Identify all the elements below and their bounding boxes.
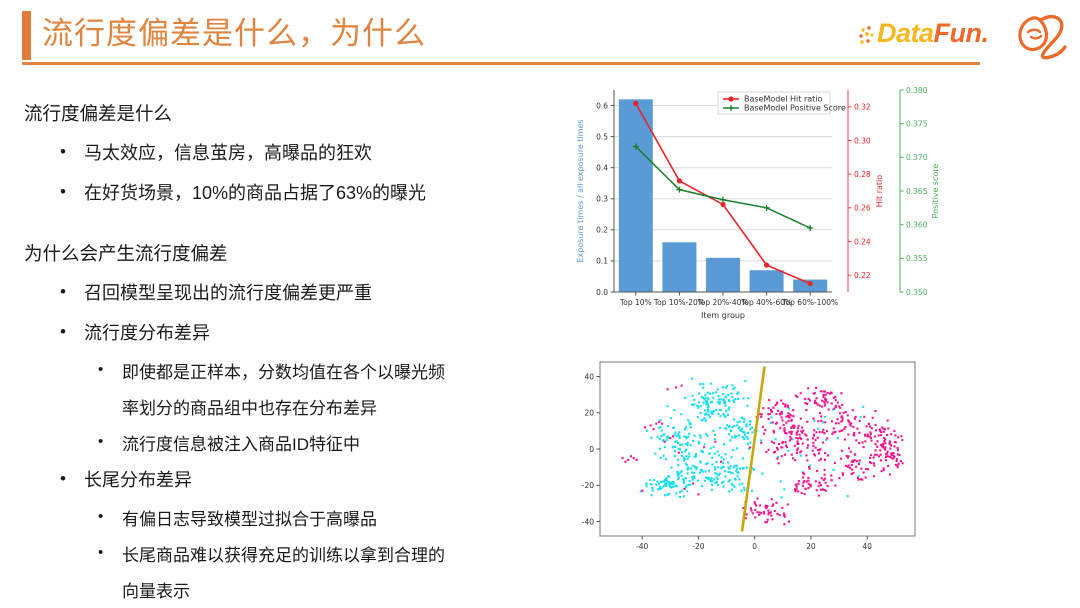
y-tick-label: -40	[582, 517, 594, 526]
scatter-point	[831, 402, 833, 404]
scatter-point	[686, 490, 688, 492]
scatter-point	[883, 431, 885, 433]
scatter-point	[804, 398, 806, 400]
slide-header: 流行度偏差是什么，为什么 DataFun.	[0, 0, 1080, 72]
scatter-point	[673, 427, 675, 429]
scatter-point	[797, 437, 799, 439]
scatter-point	[701, 485, 703, 487]
scatter-point	[842, 472, 844, 474]
scatter-point	[717, 478, 719, 480]
scatter-point	[894, 445, 896, 447]
scatter-point	[824, 402, 826, 404]
scatter-point	[707, 409, 709, 411]
scatter-point	[679, 496, 681, 498]
scatter-point	[753, 469, 755, 471]
scatter-point	[771, 411, 773, 413]
scatter-point	[779, 514, 781, 516]
bullet-text: 长尾分布差异	[84, 466, 192, 492]
scatter-point	[791, 454, 793, 456]
scatter-point	[879, 449, 881, 451]
bullet-text: 长尾商品难以获得充足的训练以拿到合理的	[122, 541, 445, 566]
scatter-point	[884, 428, 886, 430]
scatter-point	[662, 480, 664, 482]
scatter-point	[779, 427, 781, 429]
scatter-point	[693, 477, 695, 479]
scatter-point	[699, 383, 701, 385]
scatter-point	[746, 405, 748, 407]
scatter-point	[870, 454, 872, 456]
scatter-point	[827, 454, 829, 456]
scatter-point	[897, 466, 899, 468]
scatter-point	[685, 443, 687, 445]
scatter-point	[705, 433, 707, 435]
scatter-point	[711, 480, 713, 482]
scatter-point	[824, 421, 826, 423]
scatter-point	[687, 436, 689, 438]
scatter-point	[683, 479, 685, 481]
scatter-point	[789, 439, 791, 441]
scatter-point	[792, 425, 794, 427]
scatter-point	[816, 470, 818, 472]
scatter-point	[731, 426, 733, 428]
plot-frame	[600, 362, 915, 536]
scatter-point	[845, 411, 847, 413]
scatter-point	[722, 485, 724, 487]
scatter-point	[820, 484, 822, 486]
scatter-point	[731, 456, 733, 458]
scatter-point	[727, 414, 729, 416]
scatter-point	[693, 435, 695, 437]
scatter-point	[699, 434, 701, 436]
scatter-point	[826, 437, 828, 439]
bullet-text: 在好货场景，10%的商品占据了63%的曝光	[84, 179, 426, 205]
right-axis-1-tick-label: 0.28	[854, 170, 871, 179]
scatter-point	[821, 477, 823, 479]
logo-word-data: Data	[877, 18, 934, 48]
scatter-point	[687, 458, 689, 460]
scatter-point	[805, 409, 807, 411]
scatter-point	[901, 439, 903, 441]
scatter-point	[654, 453, 656, 455]
scatter-point	[752, 512, 754, 514]
scatter-point	[839, 430, 841, 432]
scatter-point	[798, 480, 800, 482]
scatter-point	[636, 459, 638, 461]
scatter-point	[876, 454, 878, 456]
scatter-point	[677, 433, 679, 435]
scatter-point	[855, 466, 857, 468]
scatter-point	[858, 432, 860, 434]
scatter-point	[860, 416, 862, 418]
scatter-point	[885, 453, 887, 455]
scatter-point	[683, 488, 685, 490]
scatter-point	[803, 480, 805, 482]
scatter-point	[641, 490, 643, 492]
scatter-point	[731, 396, 733, 398]
scatter-point	[650, 424, 652, 426]
scatter-point	[674, 455, 676, 457]
scatter-point	[738, 434, 740, 436]
scatter-point	[818, 452, 820, 454]
scatter-point	[781, 507, 783, 509]
scatter-point	[825, 394, 827, 396]
scatter-point	[898, 454, 900, 456]
scatter-point	[800, 430, 802, 432]
scatter-point	[847, 414, 849, 416]
scatter-point	[893, 430, 895, 432]
scatter-point	[859, 420, 861, 422]
scatter-point	[788, 521, 790, 523]
scatter-point	[815, 447, 817, 449]
scatter-point	[883, 437, 885, 439]
scatter-point	[731, 483, 733, 485]
scatter-point	[646, 485, 648, 487]
scatter-point	[848, 465, 850, 467]
scatter-point	[724, 453, 726, 455]
scatter-point	[659, 448, 661, 450]
y-tick-label: 0.3	[596, 195, 608, 204]
y-tick-label: 20	[584, 409, 594, 418]
scatter-point	[848, 447, 850, 449]
scatter-point	[763, 433, 765, 435]
scatter-point	[727, 461, 729, 463]
scatter-point	[717, 401, 719, 403]
y-tick-label: 40	[584, 372, 594, 381]
scatter-point	[658, 427, 660, 429]
scatter-point	[835, 422, 837, 424]
scatter-point	[813, 433, 815, 435]
scatter-point	[855, 439, 857, 441]
scatter-point	[773, 451, 775, 453]
scatter-point	[797, 447, 799, 449]
scatter-point	[685, 426, 687, 428]
scatter-point	[732, 388, 734, 390]
scatter-point	[652, 428, 654, 430]
scatter-point	[744, 380, 746, 382]
scatter-point	[795, 484, 797, 486]
scatter-point	[661, 423, 663, 425]
scatter-point	[681, 470, 683, 472]
scatter-point	[840, 392, 842, 394]
bullet-text-continuation: 向量表示	[122, 577, 190, 602]
legend-label-hit-ratio: BaseModel Hit ratio	[744, 95, 823, 104]
scatter-point	[691, 395, 693, 397]
right-axis-2-tick-label: 0.365	[906, 187, 928, 196]
scatter-point	[664, 441, 666, 443]
scatter-point	[644, 426, 646, 428]
scatter-point	[846, 455, 848, 457]
scatter-point	[667, 425, 669, 427]
section-heading: 流行度偏差是什么	[24, 100, 172, 126]
scatter-point	[702, 451, 704, 453]
scatter-point	[866, 425, 868, 427]
scatter-point	[745, 513, 747, 515]
scatter-point	[744, 489, 746, 491]
scatter-point	[695, 453, 697, 455]
scatter-point	[855, 416, 857, 418]
scatter-point	[863, 471, 865, 473]
scatter-point	[719, 427, 721, 429]
scatter-point	[873, 475, 875, 477]
scatter-point	[760, 512, 762, 514]
scatter-point	[684, 428, 686, 430]
scatter-point	[677, 472, 679, 474]
scatter-point	[686, 485, 688, 487]
scatter-point	[771, 441, 773, 443]
scatter-point	[815, 431, 817, 433]
scatter-point	[733, 425, 735, 427]
scatter-point	[771, 505, 773, 507]
scatter-point	[889, 456, 891, 458]
scatter-point	[681, 451, 683, 453]
scatter-point	[802, 485, 804, 487]
scatter-point	[681, 490, 683, 492]
scatter-point	[812, 445, 814, 447]
scatter-point	[861, 441, 863, 443]
scatter-point	[732, 449, 734, 451]
scatter-point	[680, 413, 682, 415]
scatter-point	[723, 399, 725, 401]
scatter-point	[669, 437, 671, 439]
scatter-point	[749, 442, 751, 444]
scatter-point	[744, 434, 746, 436]
scatter-point	[667, 388, 669, 390]
scatter-point	[847, 495, 849, 497]
scatter-point	[761, 413, 763, 415]
scatter-point	[847, 433, 849, 435]
scatter-point	[705, 470, 707, 472]
scatter-point	[724, 405, 726, 407]
hit-ratio-point	[633, 101, 638, 106]
scatter-point	[670, 467, 672, 469]
scatter-point	[764, 521, 766, 523]
scatter-point	[724, 427, 726, 429]
scatter-point	[719, 415, 721, 417]
scatter-point	[674, 485, 676, 487]
scatter-point	[870, 462, 872, 464]
scatter-point	[834, 485, 836, 487]
scatter-point	[714, 472, 716, 474]
scatter-point	[724, 416, 726, 418]
scatter-point	[719, 401, 721, 403]
scatter-point	[889, 448, 891, 450]
scatter-point	[787, 503, 789, 505]
scatter-point	[889, 443, 891, 445]
bullet-text: 有偏日志导致模型过拟合于高曝品	[122, 505, 377, 530]
scatter-point	[781, 419, 783, 421]
scatter-point	[704, 443, 706, 445]
scatter-point	[794, 445, 796, 447]
scatter-point	[814, 454, 816, 456]
scatter-point	[727, 394, 729, 396]
scatter-point	[824, 478, 826, 480]
scatter-point	[896, 460, 898, 462]
scatter-point	[683, 457, 685, 459]
scatter-point	[724, 475, 726, 477]
scatter-point	[824, 416, 826, 418]
scatter-point	[827, 401, 829, 403]
scatter-point	[874, 424, 876, 426]
scatter-point	[714, 434, 716, 436]
hit-ratio-point	[808, 281, 813, 286]
scatter-point	[822, 396, 824, 398]
scatter-point	[699, 472, 701, 474]
scatter-point	[627, 459, 629, 461]
scatter-point	[800, 450, 802, 452]
scatter-point	[684, 397, 686, 399]
scatter-point	[699, 412, 701, 414]
scatter-point	[858, 442, 860, 444]
scatter-point	[674, 446, 676, 448]
scatter-point	[768, 399, 770, 401]
scatter-point	[862, 406, 864, 408]
bullet-text: 召回模型呈现出的流行度偏差更严重	[84, 279, 372, 305]
scatter-point	[691, 404, 693, 406]
scatter-point	[655, 423, 657, 425]
scatter-point	[900, 435, 902, 437]
scatter-point	[705, 397, 707, 399]
scatter-point	[878, 434, 880, 436]
scatter-point	[812, 437, 814, 439]
bullet-text: 即使都是正样本，分数均值在各个以曝光频	[122, 358, 445, 383]
scatter-point	[841, 450, 843, 452]
page-title: 流行度偏差是什么，为什么	[42, 12, 426, 56]
scatter-point	[800, 418, 802, 420]
scatter-point	[763, 511, 765, 513]
scatter-point	[783, 523, 785, 525]
scatter-point	[806, 421, 808, 423]
scatter-point	[885, 459, 887, 461]
scatter-point	[730, 393, 732, 395]
scatter-point	[887, 427, 889, 429]
scatter-point	[749, 428, 751, 430]
scatter-point	[759, 504, 761, 506]
scatter-point	[677, 459, 679, 461]
scatter-point	[739, 483, 741, 485]
scatter-point	[675, 386, 677, 388]
scatter-point	[693, 472, 695, 474]
scatter-point	[796, 396, 798, 398]
scatter-point	[690, 426, 692, 428]
scatter-point	[819, 405, 821, 407]
scatter-point	[690, 423, 692, 425]
scatter-point	[874, 443, 876, 445]
scatter-point	[781, 496, 783, 498]
scatter-point	[784, 454, 786, 456]
scatter-point	[764, 429, 766, 431]
scatter-point	[742, 431, 744, 433]
scatter-point	[762, 426, 764, 428]
scatter-point	[660, 457, 662, 459]
scatter-point	[863, 416, 865, 418]
scatter-point	[704, 414, 706, 416]
title-underline-divider	[22, 62, 980, 65]
scatter-point	[718, 454, 720, 456]
scatter-point	[790, 431, 792, 433]
scatter-point	[725, 387, 727, 389]
scatter-point	[672, 486, 674, 488]
scatter-point	[751, 490, 753, 492]
scatter-point	[689, 444, 691, 446]
scatter-point	[806, 447, 808, 449]
scatter-point	[665, 477, 667, 479]
right-axis-2-tick-label: 0.370	[906, 153, 928, 162]
scatter-point	[697, 407, 699, 409]
scatter-point	[790, 427, 792, 429]
scatter-point	[831, 420, 833, 422]
scatter-point	[684, 450, 686, 452]
scatter-point	[824, 390, 826, 392]
scatter-point	[660, 481, 662, 483]
scatter-point	[814, 400, 816, 402]
y-tick-label: 0.0	[596, 288, 608, 297]
scatter-point	[853, 434, 855, 436]
scatter-point	[731, 489, 733, 491]
scatter-point	[807, 477, 809, 479]
scatter-point	[709, 416, 711, 418]
scatter-point	[860, 478, 862, 480]
scatter-point	[827, 485, 829, 487]
scatter-point	[658, 483, 660, 485]
scatter-point	[646, 483, 648, 485]
scatter-point	[844, 438, 846, 440]
scatter-point	[885, 456, 887, 458]
scatter-point	[854, 454, 856, 456]
scatter-point	[736, 424, 738, 426]
scatter-point	[728, 433, 730, 435]
scatter-point	[733, 465, 735, 467]
hit-ratio-point	[677, 178, 682, 183]
scatter-point	[830, 474, 832, 476]
scatter-point	[871, 427, 873, 429]
scatter-point	[707, 392, 709, 394]
scatter-point	[683, 495, 685, 497]
scatter-point	[727, 471, 729, 473]
scatter-point	[749, 446, 751, 448]
scatter-point	[711, 464, 713, 466]
right-axis-1-tick-label: 0.22	[854, 271, 871, 280]
scatter-point	[695, 468, 697, 470]
scatter-point	[820, 390, 822, 392]
scatter-point	[826, 392, 828, 394]
scatter-point	[624, 461, 626, 463]
scatter-point	[775, 438, 777, 440]
y-tick-label: 0.1	[596, 257, 608, 266]
scatter-point	[735, 435, 737, 437]
scatter-point	[868, 423, 870, 425]
bar	[706, 258, 740, 292]
scatter-point	[658, 421, 660, 423]
scatter-point	[681, 455, 683, 457]
scatter-point	[839, 407, 841, 409]
scatter-point	[717, 484, 719, 486]
y-tick-label: 0	[589, 445, 594, 454]
scatter-point	[837, 401, 839, 403]
scatter-point	[864, 440, 866, 442]
scatter-point	[880, 431, 882, 433]
scatter-point	[737, 398, 739, 400]
scatter-point	[715, 461, 717, 463]
scatter-point	[818, 485, 820, 487]
scatter-point	[741, 483, 743, 485]
scatter-point	[740, 430, 742, 432]
scatter-point	[681, 475, 683, 477]
scatter-point	[664, 494, 666, 496]
scatter-point	[813, 418, 815, 420]
scatter-point	[792, 409, 794, 411]
scatter-point	[818, 495, 820, 497]
y-tick-label: 0.5	[596, 132, 608, 141]
